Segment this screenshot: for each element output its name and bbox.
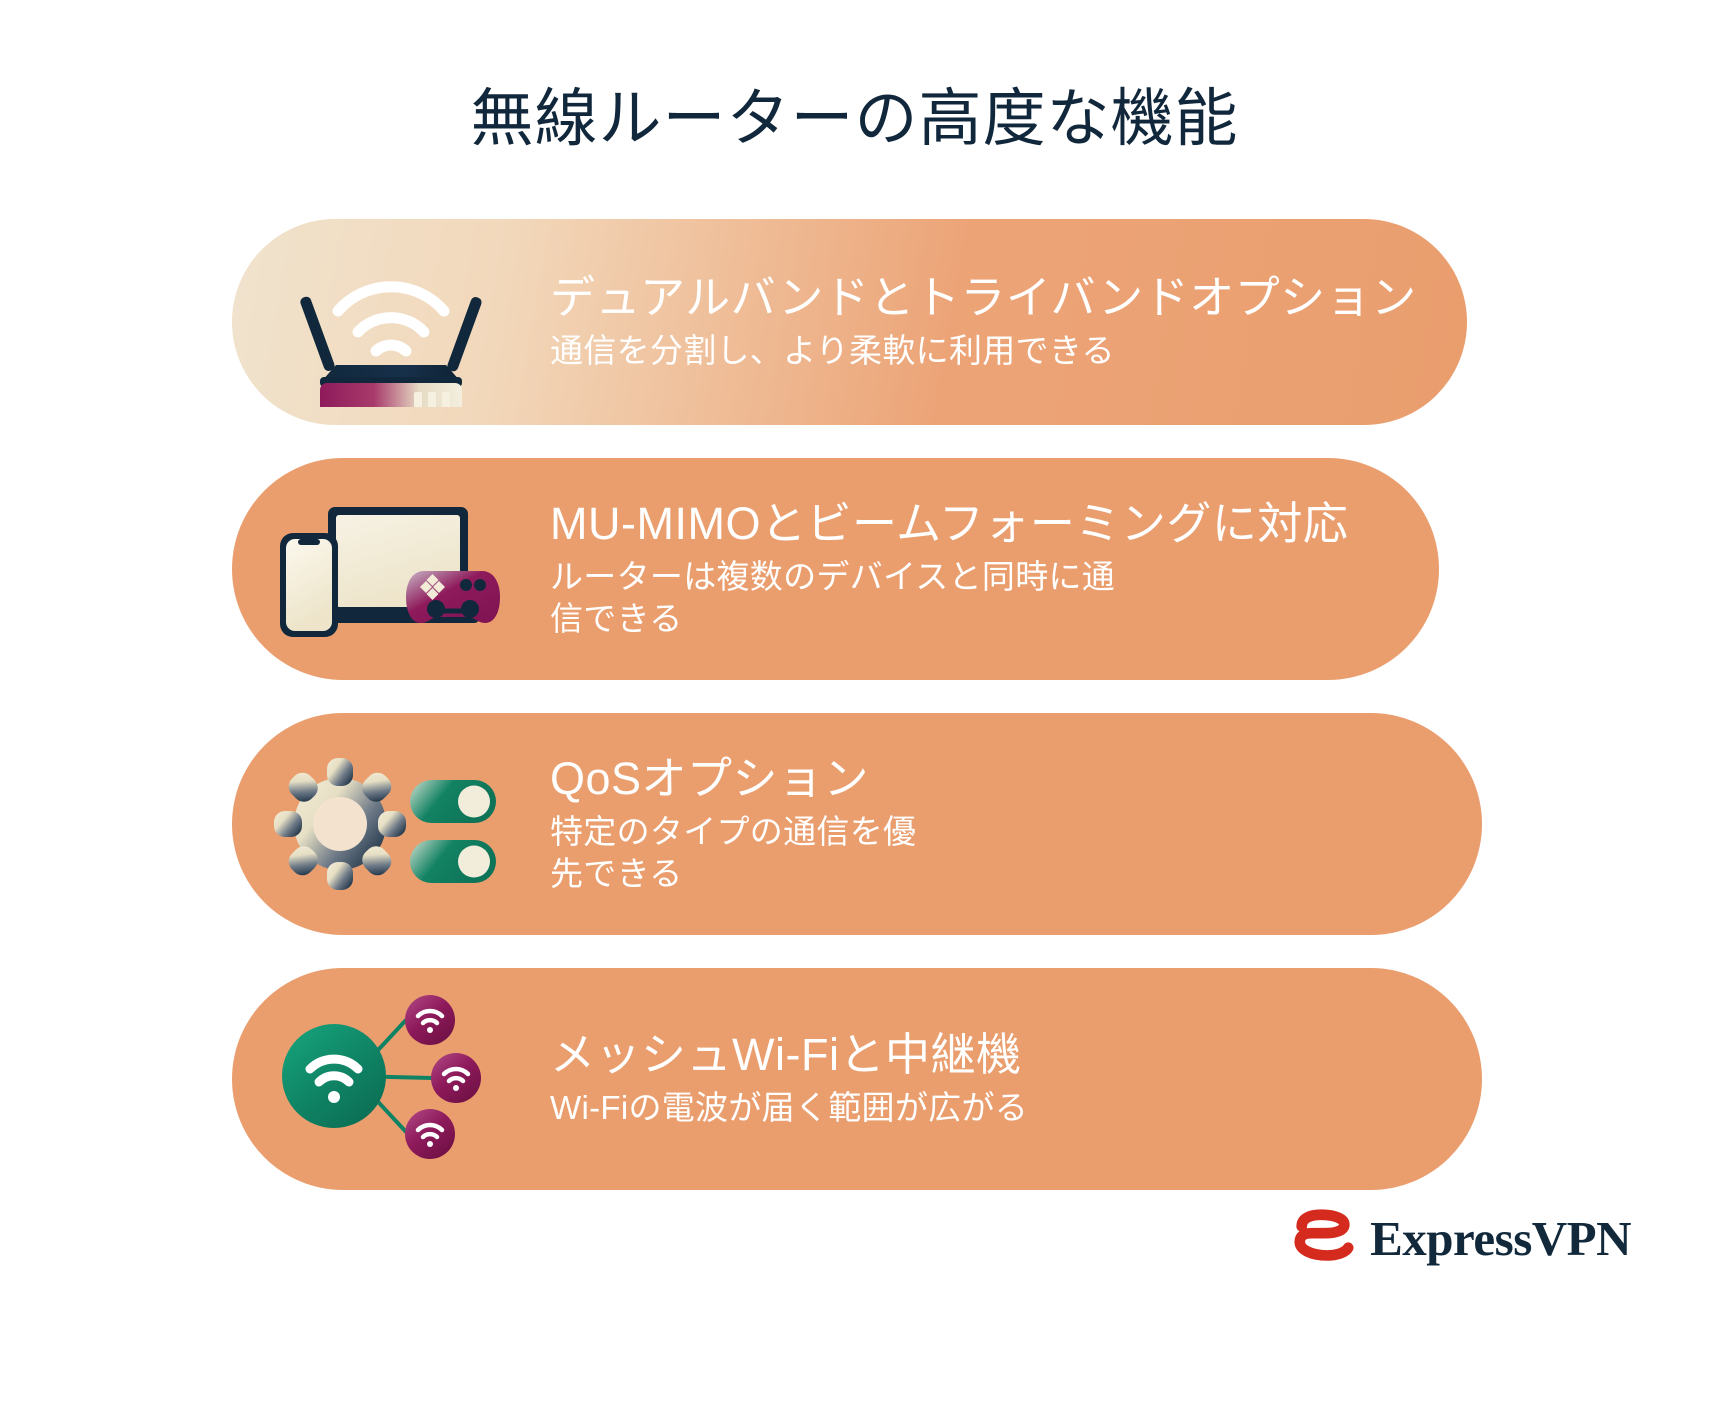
card-subtitle: 特定のタイプの通信を優 先できる [550,811,1452,895]
card-title: MU-MIMOとビームフォーミングに対応 [550,498,1409,550]
router-svg [276,237,506,407]
gear-toggles-icon [232,713,550,935]
card-title: デュアルバンドとトライバンドオプション [550,272,1437,324]
mesh-wifi-icon [232,968,550,1190]
gear-toggles-svg [266,744,516,904]
card-text-block: QoSオプション 特定のタイプの通信を優 先できる [550,753,1482,895]
feature-card-list: デュアルバンドとトライバンドオプション 通信を分割し、より柔軟に利用できる [232,219,1497,1223]
card-subtitle: ルーターは複数のデバイスと同時に通 信できる [550,556,1409,640]
feature-card-mesh-wifi[interactable]: メッシュWi-Fiと中継機 Wi-Fiの電波が届く範囲が広がる [232,968,1482,1190]
card-text-block: メッシュWi-Fiと中継機 Wi-Fiの電波が届く範囲が広がる [550,1029,1482,1129]
wireless-router-icon [232,219,550,425]
card-title: QoSオプション [550,753,1452,805]
feature-card-qos[interactable]: QoSオプション 特定のタイプの通信を優 先できる [232,713,1482,935]
card-subtitle: 通信を分割し、より柔軟に利用できる [550,330,1437,372]
feature-card-mu-mimo[interactable]: MU-MIMOとビームフォーミングに対応 ルーターは複数のデバイスと同時に通 信… [232,458,1439,680]
infographic-page: 無線ルーターの高度な機能 [0,0,1709,1409]
card-subtitle: Wi-Fiの電波が届く範囲が広がる [550,1087,1452,1129]
card-text-block: MU-MIMOとビームフォーミングに対応 ルーターは複数のデバイスと同時に通 信… [550,498,1439,640]
card-title: メッシュWi-Fiと中継機 [550,1029,1452,1081]
expressvpn-logo-icon [1292,1207,1354,1269]
mesh-wifi-svg [266,984,516,1174]
brand-name: ExpressVPN [1370,1210,1631,1267]
page-title: 無線ルーターの高度な機能 [0,68,1709,159]
card-text-block: デュアルバンドとトライバンドオプション 通信を分割し、より柔軟に利用できる [550,272,1467,372]
multi-device-icon [232,458,550,680]
devices-svg [266,489,516,649]
feature-card-dual-band[interactable]: デュアルバンドとトライバンドオプション 通信を分割し、より柔軟に利用できる [232,219,1467,425]
expressvpn-logo: ExpressVPN [1292,1207,1631,1269]
